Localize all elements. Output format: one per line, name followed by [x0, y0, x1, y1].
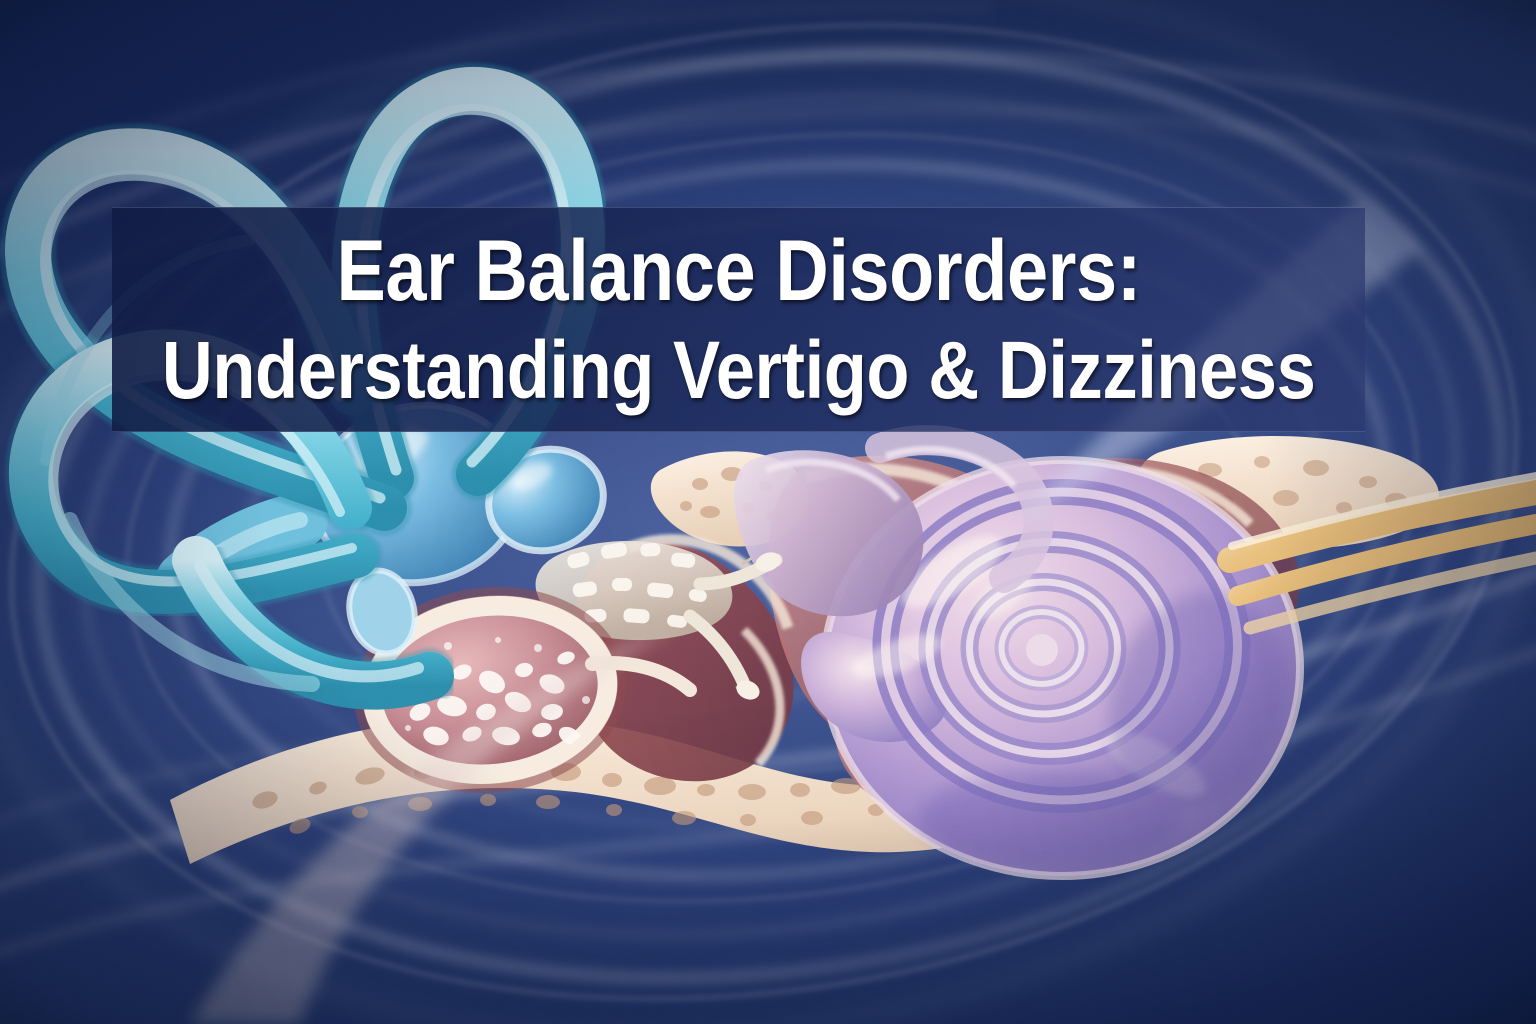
title-line-2: Understanding Vertigo & Dizziness [162, 330, 1315, 412]
title-banner: Ear Balance Disorders: Understanding Ver… [112, 207, 1365, 432]
title-line-1: Ear Balance Disorders: [336, 228, 1140, 314]
title-card: Ear Balance Disorders: Understanding Ver… [0, 0, 1536, 1024]
inner-ear-anatomy-illustration [0, 0, 1536, 1024]
